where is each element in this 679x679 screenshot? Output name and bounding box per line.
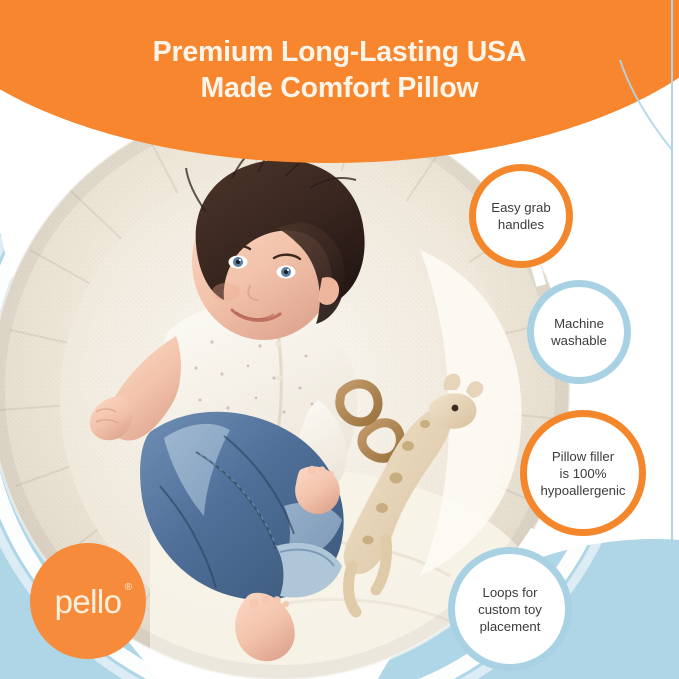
logo-wordmark: pello® [55, 585, 122, 618]
feature-badge-label: Machine washable [545, 315, 613, 349]
feature-badge-loops-custom-toy-placement[interactable]: Loops for custom toy placement [448, 547, 572, 671]
feature-badge-machine-washable[interactable]: Machine washable [527, 280, 631, 384]
feature-badge-label: Easy grab handles [485, 199, 556, 233]
feature-badge-label: Pillow filler is 100% hypoallergenic [534, 448, 631, 499]
right-edge-rule [671, 0, 673, 679]
product-infographic: Premium Long-Lasting USA Made Comfort Pi… [0, 0, 679, 679]
feature-badge-label: Loops for custom toy placement [472, 584, 548, 635]
feature-badge-pillow-filler-hypoallergenic[interactable]: Pillow filler is 100% hypoallergenic [520, 410, 646, 536]
registered-trademark-icon: ® [125, 583, 132, 593]
feature-badge-easy-grab-handles[interactable]: Easy grab handles [469, 164, 573, 268]
pello-logo[interactable]: pello® [30, 543, 146, 659]
